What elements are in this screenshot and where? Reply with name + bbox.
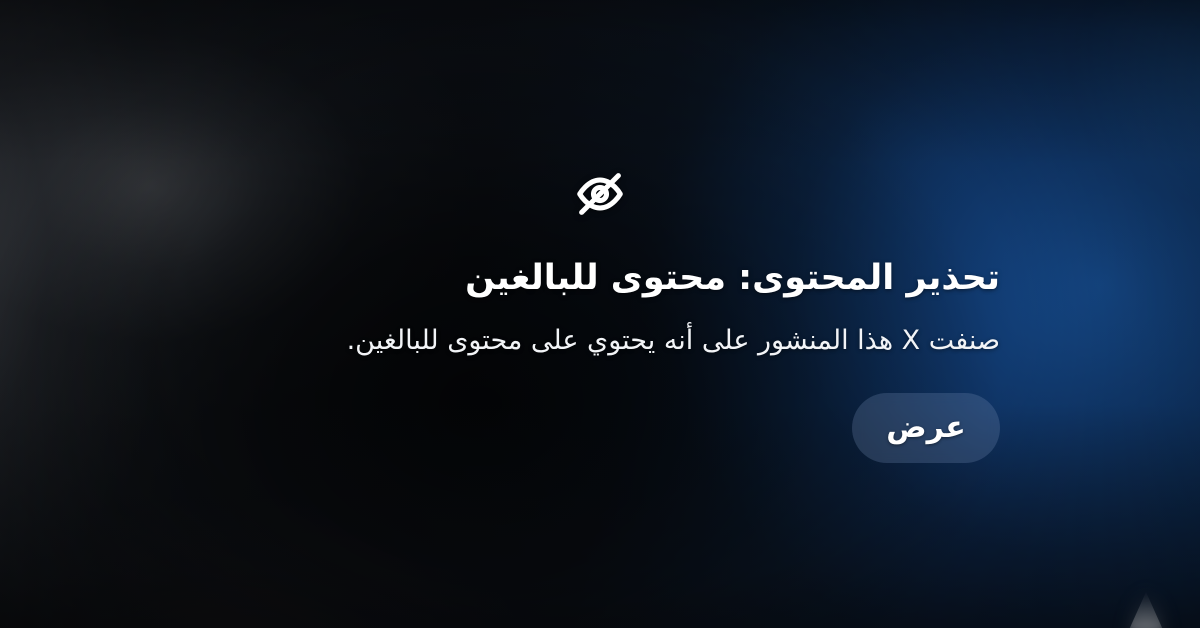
- content-warning-screen: تحذير المحتوى: محتوى للبالغين صنفت X هذا…: [0, 0, 1200, 628]
- content-warning-title: تحذير المحتوى: محتوى للبالغين: [200, 257, 1000, 300]
- content-warning-description: صنفت X هذا المنشور على أنه يحتوي على محت…: [200, 322, 1000, 360]
- view-button[interactable]: عرض: [852, 393, 1000, 463]
- eye-off-icon: [571, 165, 629, 223]
- content-warning-overlay: تحذير المحتوى: محتوى للبالغين صنفت X هذا…: [0, 0, 1200, 628]
- content-warning-actions: عرض: [200, 393, 1000, 463]
- content-warning-card: تحذير المحتوى: محتوى للبالغين صنفت X هذا…: [200, 165, 1000, 462]
